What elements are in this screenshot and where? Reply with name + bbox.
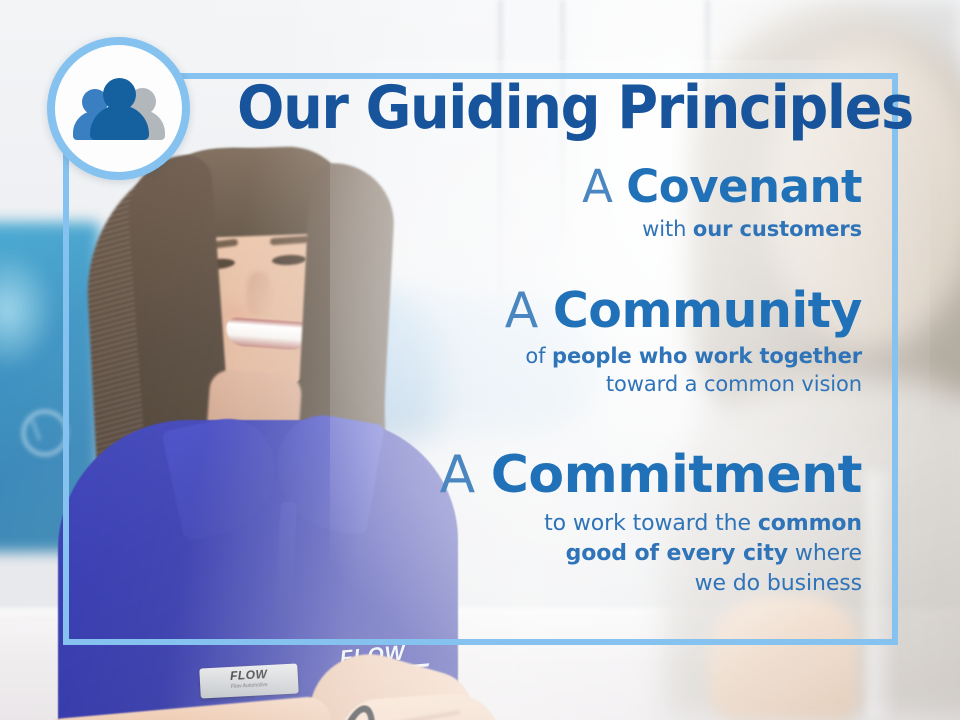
principle-keyword: Community — [553, 282, 862, 339]
principle-article: A — [440, 445, 475, 505]
people-group-icon — [71, 78, 167, 140]
text-block: Our Guiding Principles A Covenant with o… — [190, 78, 862, 600]
principle-subtext-line: toward a common vision — [190, 371, 862, 399]
subtext-part-bold: common — [758, 511, 862, 536]
subtext-part: where — [788, 541, 862, 566]
principle-keyword: Covenant — [626, 160, 862, 213]
principle-article: A — [505, 282, 538, 339]
principle-subtext-line: we do business — [190, 569, 862, 599]
principle-heading: A Community — [190, 284, 862, 339]
principle-covenant: A Covenant with our customers — [190, 162, 862, 244]
principle-keyword: Commitment — [491, 445, 862, 505]
people-badge — [47, 37, 190, 180]
subtext-part-bold: good of every city — [566, 541, 788, 566]
subtext-part-bold: people who work together — [552, 344, 862, 368]
principle-subtext-line: to work toward the common — [190, 509, 862, 539]
principle-subtext-line: with our customers — [190, 216, 862, 244]
principle-article: A — [582, 160, 612, 213]
page-title: Our Guiding Principles — [237, 78, 862, 138]
subtext-part: toward a common vision — [606, 372, 862, 396]
principle-subtext-line: good of every city where — [190, 539, 862, 569]
subtext-part: we do business — [695, 571, 862, 596]
principle-community: A Community of people who work together … — [190, 284, 862, 398]
subtext-part: of — [525, 344, 552, 368]
subtext-part-bold: our customers — [693, 217, 862, 241]
principle-subtext-line: of people who work together — [190, 343, 862, 371]
principle-commitment: A Commitment to work toward the common g… — [190, 446, 862, 599]
subtext-part: with — [642, 217, 693, 241]
promotional-banner: FLOW FLOW Flow Automotive — [0, 0, 960, 720]
principle-heading: A Covenant — [190, 162, 862, 212]
principle-heading: A Commitment — [190, 446, 862, 504]
subtext-part: to work toward the — [544, 511, 758, 536]
